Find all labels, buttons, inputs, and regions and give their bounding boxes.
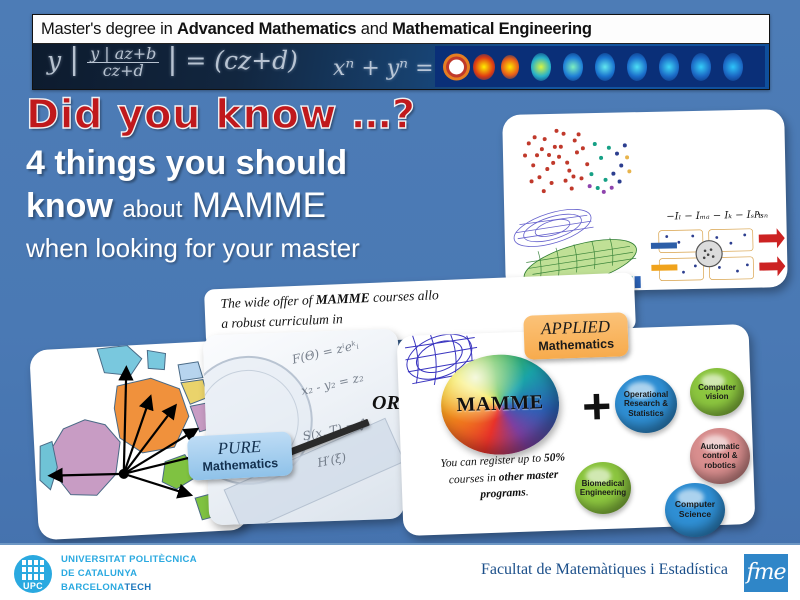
banner-title-mid: and <box>356 20 392 38</box>
vortex-blob <box>563 53 583 81</box>
or-separator-label: OR <box>372 392 400 415</box>
vortex-blob <box>723 53 743 81</box>
upc-logo-text: UNIVERSITAT POLITÈCNICA DE CATALUNYA BAR… <box>61 553 197 594</box>
handwritten-formula-2: x₂ - y₂ = z₂ <box>300 370 365 398</box>
vortex-cylinder <box>449 59 464 74</box>
bubble-label: Computer vision <box>692 383 742 401</box>
plus-sign: + <box>581 381 612 432</box>
banner-title-prefix: Master's degree in <box>41 20 177 38</box>
headline-line-3: know about MAMME <box>26 186 496 225</box>
banner-image: y | y | az+bcz+d | = (cz+d) xⁿ + yⁿ = zⁿ <box>33 44 769 89</box>
bubble-computer-vision[interactable]: Computer vision <box>690 368 744 416</box>
headline-know: know <box>26 187 113 225</box>
bubble-label: Computer Science <box>667 500 723 520</box>
header-banner: Master's degree in Advanced Mathematics … <box>32 14 770 90</box>
applied-label-line2: Mathematics <box>538 336 614 353</box>
bubble-operational-research-statistics[interactable]: Operational Research & Statistics <box>615 375 677 433</box>
banner-title: Master's degree in Advanced Mathematics … <box>33 15 769 44</box>
courses-text-part1: The wide offer of <box>220 292 316 311</box>
banner-title-bold-2: Mathematical Engineering <box>392 20 592 38</box>
register-percent: 50% <box>544 451 566 464</box>
vortex-blob <box>501 55 519 79</box>
upc-line-2: DE CATALUNYA <box>61 567 197 581</box>
footer-bar: UPC UNIVERSITAT POLITÈCNICA DE CATALUNYA… <box>0 543 800 600</box>
vortex-blob <box>691 53 711 81</box>
blackboard-equation-1: y | y | az+bcz+d | = (cz+d) <box>47 42 298 79</box>
upc-line-1: UNIVERSITAT POLITÈCNICA <box>61 553 197 567</box>
image-collage-card: −Iₗ − Iₘₐ − Iₖ − Iₛ₧ₙ <box>502 109 788 293</box>
mamme-sphere-label: MAMME <box>441 391 560 418</box>
scatter-network-plot-tile <box>508 117 644 204</box>
handwritten-formula-1: F(Θ) = zⁱeᵏᵢ <box>291 338 360 367</box>
vortex-blob <box>627 53 647 81</box>
neuro-equation-text: −Iₗ − Iₘₐ − Iₖ − Iₛ₧ₙ <box>666 209 768 222</box>
bubble-label: Automatic control & robotics <box>692 442 748 470</box>
headline-mamme: MAMME <box>192 186 326 225</box>
giraffe-pattern-tile <box>644 112 782 205</box>
vortex-blob <box>659 53 679 81</box>
neuron-model-svg: −Iₗ − Iₘₐ − Iₖ − Iₛ₧ₙ <box>648 204 786 289</box>
register-part1: You can register up to <box>440 452 544 469</box>
applied-label-line1: APPLIED <box>537 317 613 339</box>
map-region-iberia <box>51 418 123 497</box>
vortex-street-visualization <box>435 46 765 87</box>
headline-block: Did you know …? 4 things you should know… <box>26 94 496 264</box>
faculty-name: Facultat de Matemàtiques i Estadística <box>481 561 728 579</box>
upc-barcelona: BARCELONA <box>61 582 124 593</box>
headline-did-you-know: Did you know …? <box>26 94 496 136</box>
map-region-benelux <box>178 362 203 381</box>
register-note: You can register up to 50% courses in ot… <box>422 448 584 506</box>
scatter-network-svg <box>508 117 644 204</box>
headline-line-4: when looking for your master <box>26 233 496 264</box>
headline-line-2: 4 things you should <box>26 144 496 182</box>
courses-text-mamme: MAMME <box>315 290 370 307</box>
eq1-denominator: cz+d <box>103 61 144 80</box>
fme-logo: fme <box>744 554 788 592</box>
pure-math-card: F(Θ) = zⁱeᵏᵢ x₂ - y₂ = z₂ S(x, T) = ∫ H′… <box>203 329 405 526</box>
courses-text-line2: a robust curriculum in <box>221 311 343 331</box>
pure-label-line2: Mathematics <box>202 456 278 474</box>
upc-logo: UPC UNIVERSITAT POLITÈCNICA DE CATALUNYA… <box>14 553 197 594</box>
courses-text-part2: courses allo <box>369 287 439 305</box>
upc-grid-icon <box>22 560 44 580</box>
upc-line-3: BARCELONATECH <box>61 581 197 595</box>
bubble-label: Operational Research & Statistics <box>617 390 675 418</box>
applied-mathematics-label: APPLIED Mathematics <box>523 312 628 360</box>
bubble-label: Biomedical Engineering <box>577 479 629 497</box>
upc-tech: TECH <box>124 582 151 593</box>
register-end: . <box>525 487 528 499</box>
neuron-model-diagram-tile: −Iₗ − Iₘₐ − Iₖ − Iₛ₧ₙ <box>648 204 786 289</box>
vortex-blob <box>595 53 615 81</box>
vortex-blob <box>473 54 495 80</box>
bubble-biomedical-engineering[interactable]: Biomedical Engineering <box>575 462 631 514</box>
bubble-computer-science[interactable]: Computer Science <box>665 483 725 537</box>
map-region-uk-north <box>147 349 166 370</box>
slide-canvas: Master's degree in Advanced Mathematics … <box>0 0 800 600</box>
upc-mark-icon: UPC <box>14 555 52 593</box>
map-region-uk <box>97 345 143 377</box>
headline-about: about <box>122 196 182 223</box>
vortex-blob <box>531 53 551 81</box>
pure-mathematics-label: PURE Mathematics <box>187 431 293 480</box>
banner-title-bold-1: Advanced Mathematics <box>177 20 356 38</box>
upc-mark-text: UPC <box>14 581 52 591</box>
register-part2: courses in <box>449 471 499 486</box>
bubble-automatic-control-robotics[interactable]: Automatic control & robotics <box>690 428 750 484</box>
